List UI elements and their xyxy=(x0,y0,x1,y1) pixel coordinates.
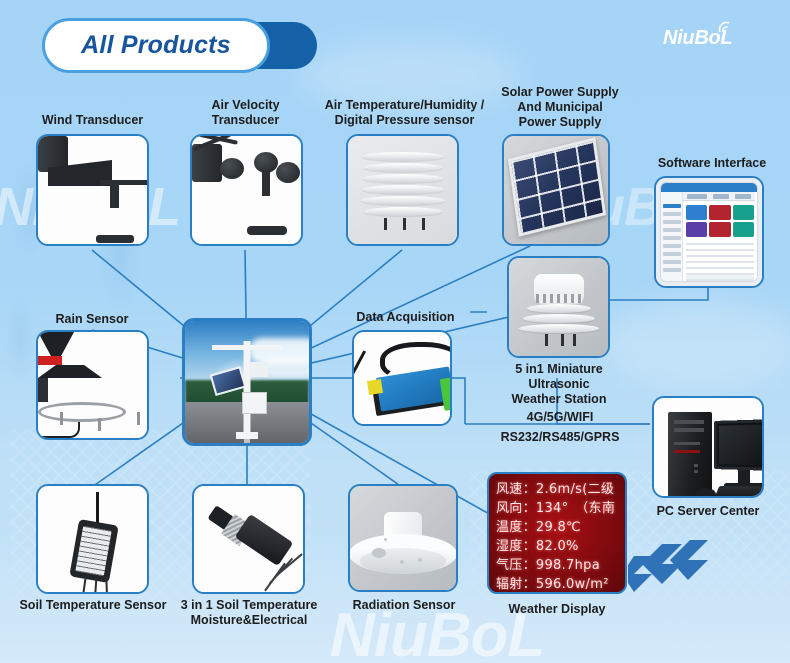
card-soil-3in1-sensor[interactable] xyxy=(192,484,305,594)
card-solar-power-supply[interactable] xyxy=(502,134,610,246)
led-row-pressure: 气压：998.7hpa xyxy=(496,556,625,575)
card-weather-display[interactable]: 风速：2.6m/s(二级 风向：134° （东南 温度：29.8℃ 湿度：82.… xyxy=(487,472,627,594)
card-wind-transducer[interactable] xyxy=(36,134,149,246)
card-air-temperature-humidity-pressure[interactable] xyxy=(346,134,459,246)
label-radiation-sensor: Radiation Sensor xyxy=(348,598,460,613)
label-wind-transducer: Wind Transducer xyxy=(20,113,165,128)
photo-weather-station-pole xyxy=(185,321,309,443)
photo-radiation-shield xyxy=(348,136,457,244)
photo-wind-vane xyxy=(38,136,147,244)
wifi-signal-icon xyxy=(718,21,734,35)
label-solar-power-supply: Solar Power Supply And Municipal Power S… xyxy=(480,85,640,130)
dashboard-tiles xyxy=(686,205,754,237)
label-wired-connectivity: RS232/RS485/GPRS xyxy=(487,430,633,445)
label-rain-sensor: Rain Sensor xyxy=(22,312,162,327)
label-software-interface: Software Interface xyxy=(638,156,786,171)
label-pc-server-center: PC Server Center xyxy=(646,504,770,519)
card-air-velocity-transducer[interactable] xyxy=(190,134,303,246)
card-ultrasonic-weather-station[interactable] xyxy=(507,256,610,358)
label-soil-3in1-sensor: 3 in 1 Soil Temperature Moisture&Electri… xyxy=(178,598,320,628)
dashboard-tile-3 xyxy=(733,205,754,220)
card-data-acquisition[interactable] xyxy=(352,330,452,426)
led-row-wind-speed: 风速：2.6m/s(二级 xyxy=(496,480,625,499)
card-rain-sensor[interactable] xyxy=(36,330,149,440)
all-products-badge[interactable]: All Products xyxy=(42,18,317,73)
led-row-temperature: 温度：29.8℃ xyxy=(496,518,625,537)
card-soil-temperature-sensor[interactable] xyxy=(36,484,149,594)
photo-pc-server xyxy=(654,398,762,496)
led-row-wind-direction: 风向：134° （东南 xyxy=(496,499,625,518)
badge-pill: All Products xyxy=(42,18,270,73)
label-air-temperature-humidity: Air Temperature/Humidity / Digital Press… xyxy=(312,98,497,128)
dashboard-tile-5 xyxy=(709,222,730,237)
dashboard-tile-2 xyxy=(709,205,730,220)
product-diagram-canvas: NiuBoL NiuBoL NiuBoL xyxy=(0,0,790,663)
label-air-velocity: Air Velocity Transducer xyxy=(178,98,313,128)
dashboard-tile-1 xyxy=(686,205,707,220)
label-weather-display: Weather Display xyxy=(495,602,619,617)
photo-rain-gauge xyxy=(38,332,147,438)
label-ultrasonic-weather-station: 5 in1 Miniature Ultrasonic Weather Stati… xyxy=(489,362,629,407)
chevron-arrows-icon xyxy=(628,540,728,598)
dashboard-tile-6 xyxy=(733,222,754,237)
card-software-interface[interactable] xyxy=(654,176,764,288)
photo-soil-temperature-probe xyxy=(38,486,147,592)
dashboard-table xyxy=(686,241,754,271)
photo-software-dashboard xyxy=(656,178,762,286)
card-radiation-sensor[interactable] xyxy=(348,484,458,592)
badge-label: All Products xyxy=(81,31,231,60)
label-wireless-connectivity: 4G/5G/WIFI xyxy=(500,410,620,425)
photo-ultrasonic-station xyxy=(509,258,608,356)
photo-soil-3in1-probe xyxy=(194,486,303,592)
photo-radiation-sensor xyxy=(350,486,456,590)
dashboard-tile-4 xyxy=(686,222,707,237)
label-data-acquisition: Data Acquisition xyxy=(338,310,473,325)
niubol-logo: NiuBoL xyxy=(663,27,732,50)
led-row-radiation: 辐射：596.0w/m² xyxy=(496,575,625,594)
led-row-humidity: 湿度：82.0% xyxy=(496,537,625,556)
card-pc-server-center[interactable] xyxy=(652,396,764,498)
photo-dtu-device xyxy=(354,332,450,424)
photo-solar-panel xyxy=(504,136,608,244)
photo-anemometer xyxy=(192,136,301,244)
label-soil-temperature-sensor: Soil Temperature Sensor xyxy=(14,598,172,613)
hub-weather-station-photo[interactable] xyxy=(182,318,312,446)
